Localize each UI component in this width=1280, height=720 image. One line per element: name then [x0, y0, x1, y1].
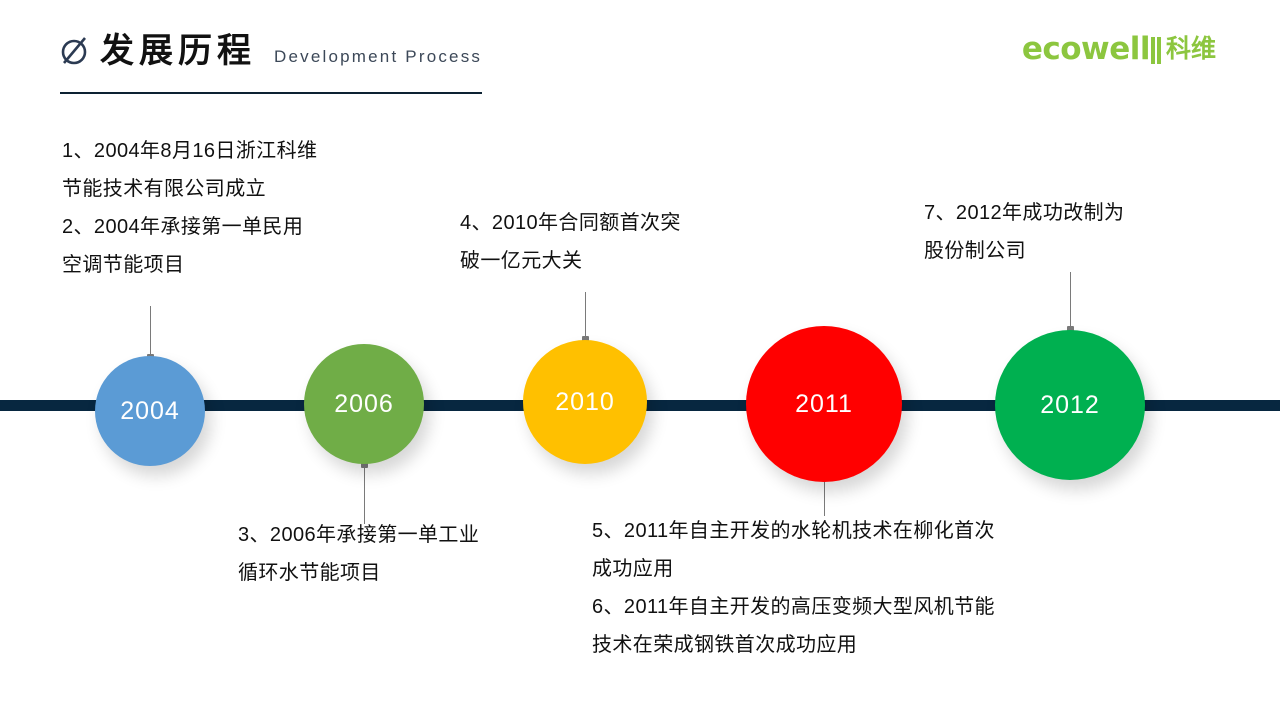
node-year-label: 2004: [120, 397, 180, 426]
slide-canvas: 发展历程 Development Process ecowell 科维 2004…: [0, 0, 1280, 720]
node-year-label: 2006: [334, 390, 394, 419]
connector-2006: [364, 464, 365, 524]
node-year-label: 2011: [795, 390, 853, 419]
timeline-node-2004[interactable]: 2004: [95, 356, 205, 466]
header-divider: [60, 92, 482, 94]
node-year-label: 2010: [555, 388, 615, 417]
milestone-note-4: 4、2010年合同额首次突 破一亿元大关: [460, 204, 780, 280]
page-title: 发展历程: [100, 34, 256, 68]
timeline-node-2011[interactable]: 2011: [746, 326, 902, 482]
milestone-note-1-2: 1、2004年8月16日浙江科维 节能技术有限公司成立 2、2004年承接第一单…: [62, 132, 462, 284]
slashed-circle-icon: [58, 32, 94, 68]
logo-chinese-name: 科维: [1166, 37, 1216, 62]
timeline-node-2012[interactable]: 2012: [995, 330, 1145, 480]
milestone-note-5-6: 5、2011年自主开发的水轮机技术在柳化首次 成功应用 6、2011年自主开发的…: [592, 512, 1172, 664]
company-logo: ecowell 科维: [1022, 34, 1216, 65]
connector-2010: [585, 292, 586, 340]
milestone-note-7: 7、2012年成功改制为 股份制公司: [924, 194, 1224, 270]
logo-bars-icon: [1151, 37, 1162, 64]
connector-2012: [1070, 272, 1071, 330]
page-header: 发展历程 Development Process: [58, 26, 482, 68]
connector-2004: [150, 306, 151, 358]
logo-wordmark: ecowell: [1022, 34, 1150, 65]
node-year-label: 2012: [1040, 391, 1100, 420]
timeline-node-2006[interactable]: 2006: [304, 344, 424, 464]
milestone-note-3: 3、2006年承接第一单工业 循环水节能项目: [238, 516, 598, 592]
timeline-node-2010[interactable]: 2010: [523, 340, 647, 464]
page-subtitle: Development Process: [274, 48, 482, 65]
